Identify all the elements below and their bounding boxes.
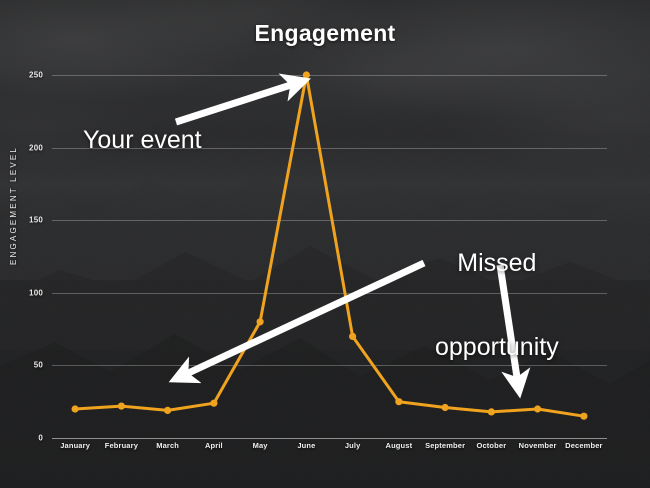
annotation-missed-line1: Missed xyxy=(435,249,559,277)
chart-slide: Engagement ENGAGEMENT LEVEL 050100150200… xyxy=(0,0,650,488)
arrow-down-left-icon xyxy=(182,263,424,376)
annotation-missed-line2: opportunity xyxy=(435,333,559,361)
arrow-up-right-icon xyxy=(176,83,297,122)
annotation-missed-opportunity: Missed opportunity xyxy=(435,193,559,417)
annotation-your-event: Your event xyxy=(83,126,202,154)
